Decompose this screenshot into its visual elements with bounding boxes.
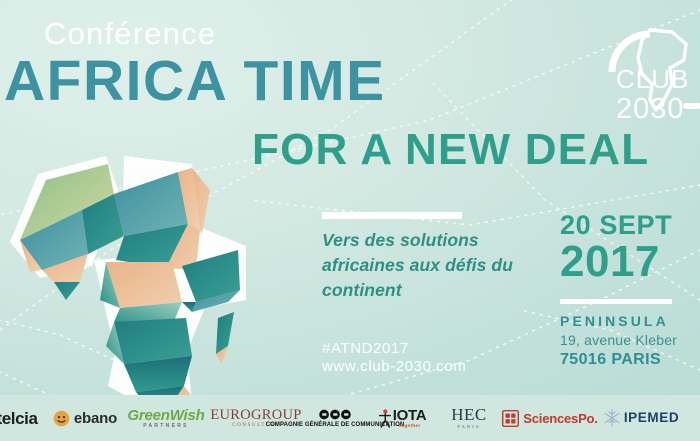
sponsor-logo-eurogroup[interactable]: EUROGROUP CONSULTING	[210, 395, 302, 441]
hec-sub: PARIS	[451, 425, 487, 430]
greenwish-name: GreenWish	[127, 407, 204, 424]
event-website[interactable]: www.club-2030.com	[322, 356, 466, 378]
poster-title-line-2: FOR A NEW DEAL	[252, 128, 649, 172]
club-2030-logo[interactable]: CLUB 2030	[598, 14, 700, 126]
sponsor-logo-agyp[interactable]: AGYP	[684, 395, 700, 441]
venue-divider	[560, 299, 672, 304]
iota-figure-icon	[378, 408, 391, 428]
sponsor-label-iota: IOTA Together	[393, 408, 427, 429]
brand-name-bottom: 2030	[616, 93, 685, 125]
venue-street: 19, avenue Kleber	[560, 333, 677, 347]
poster-tagline: Vers des solutions africaines aux défis …	[322, 228, 527, 303]
ipemed-star-icon	[603, 408, 621, 428]
sponsor-label-hec: HEC PARIS	[451, 406, 487, 430]
sciencespo-mark-icon	[502, 410, 519, 427]
sponsor-label-ebano: ebano	[74, 411, 117, 426]
venue-city: 75016 PARIS	[560, 352, 661, 368]
sponsor-logo-ipemed[interactable]: IPEMED	[598, 395, 684, 441]
sponsor-label-sciencespo: SciencesPo.	[523, 412, 597, 425]
brand-name-top: CLUB	[616, 64, 689, 94]
venue-name: PENINSULA	[560, 314, 669, 328]
sponsor-logo-iota[interactable]: IOTA Together	[368, 395, 436, 441]
event-date-year: 2017	[560, 240, 660, 284]
conference-poster: CLUB 2030 Conférence AFRICA TIME FOR A N…	[0, 0, 700, 441]
sponsor-logo-bar: telcia ebano GreenWish PARTNERS EUROGROU…	[0, 395, 700, 441]
africa-map-illustration	[0, 150, 306, 405]
poster-title-line-1: AFRICA TIME	[4, 53, 386, 110]
sponsor-logo-cgc[interactable]: COMPAGNIE GÉNÉRALE DE COMMUNICATION	[302, 395, 368, 441]
greenwish-sub: PARTNERS	[127, 424, 204, 429]
ebano-face-icon	[53, 410, 70, 427]
iota-name: IOTA	[393, 407, 427, 424]
sponsor-label-greenwish: GreenWish PARTNERS	[127, 408, 204, 429]
hec-name: HEC	[451, 405, 487, 424]
sponsor-label-telcia: telcia	[0, 410, 38, 427]
sponsor-logo-greenwish[interactable]: GreenWish PARTNERS	[122, 395, 210, 441]
eurogroup-name: EUROGROUP	[210, 407, 301, 423]
cgc-mark-icon	[318, 409, 352, 420]
sponsor-logo-hec[interactable]: HEC PARIS	[436, 395, 502, 441]
sponsor-logo-telcia[interactable]: telcia	[0, 395, 48, 441]
sponsor-logo-sciencespo[interactable]: SciencesPo.	[502, 395, 598, 441]
conference-kicker: Conférence	[44, 18, 216, 49]
iota-sub: Together	[393, 424, 427, 429]
sponsor-label-ipemed: IPEMED	[624, 411, 679, 425]
tagline-divider	[322, 212, 462, 219]
event-date-day: 20 SEPT	[560, 212, 672, 239]
sponsor-logo-ebano[interactable]: ebano	[48, 395, 122, 441]
